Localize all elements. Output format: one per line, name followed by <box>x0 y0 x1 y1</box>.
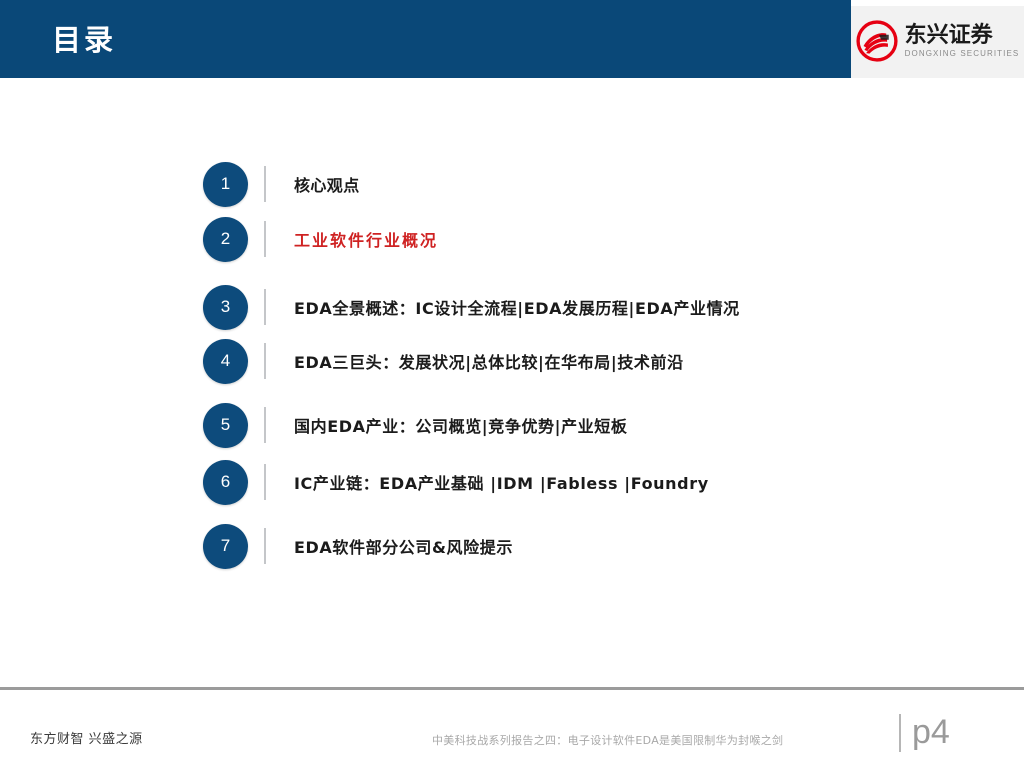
toc-item-label: EDA三巨头：发展状况|总体比较|在华布局|技术前沿 <box>294 349 684 373</box>
table-of-contents: 1 核心观点 2 工业软件行业概况 3 EDA全景概述：IC设计全流程|EDA发… <box>0 0 1024 768</box>
toc-item-label: EDA全景概述：IC设计全流程|EDA发展历程|EDA产业情况 <box>294 295 740 319</box>
page-number: p4 <box>912 712 950 752</box>
toc-item-5[interactable]: 5 国内EDA产业：公司概览|竞争优势|产业短板 <box>203 402 627 448</box>
toc-divider <box>264 166 266 202</box>
toc-item-7[interactable]: 7 EDA软件部分公司&风险提示 <box>203 523 513 569</box>
toc-number-badge: 7 <box>203 524 248 569</box>
toc-number-badge: 4 <box>203 339 248 384</box>
toc-item-label: 国内EDA产业：公司概览|竞争优势|产业短板 <box>294 413 627 437</box>
toc-item-label: EDA软件部分公司&风险提示 <box>294 534 513 558</box>
footer-report-title: 中美科技战系列报告之四：电子设计软件EDA是美国限制华为封喉之剑 <box>432 732 783 748</box>
toc-item-2[interactable]: 2 工业软件行业概况 <box>203 216 438 262</box>
toc-item-4[interactable]: 4 EDA三巨头：发展状况|总体比较|在华布局|技术前沿 <box>203 338 684 384</box>
toc-number-badge: 5 <box>203 403 248 448</box>
toc-number-badge: 1 <box>203 162 248 207</box>
footer-slogan: 东方财智 兴盛之源 <box>30 728 143 747</box>
toc-item-6[interactable]: 6 IC产业链：EDA产业基础 |IDM |Fabless |Foundry <box>203 459 709 505</box>
toc-item-label: IC产业链：EDA产业基础 |IDM |Fabless |Foundry <box>294 470 709 494</box>
toc-item-label: 核心观点 <box>294 172 360 196</box>
toc-divider <box>264 528 266 564</box>
slide-footer: 东方财智 兴盛之源 中美科技战系列报告之四：电子设计软件EDA是美国限制华为封喉… <box>0 690 1024 768</box>
toc-divider <box>264 289 266 325</box>
toc-divider <box>264 343 266 379</box>
toc-number-badge: 6 <box>203 460 248 505</box>
toc-divider <box>264 407 266 443</box>
toc-item-1[interactable]: 1 核心观点 <box>203 161 360 207</box>
toc-divider <box>264 221 266 257</box>
toc-divider <box>264 464 266 500</box>
toc-item-3[interactable]: 3 EDA全景概述：IC设计全流程|EDA发展历程|EDA产业情况 <box>203 284 740 330</box>
footer-page-separator <box>899 714 901 752</box>
toc-item-label-active: 工业软件行业概况 <box>294 227 438 251</box>
toc-number-badge: 2 <box>203 217 248 262</box>
toc-number-badge: 3 <box>203 285 248 330</box>
